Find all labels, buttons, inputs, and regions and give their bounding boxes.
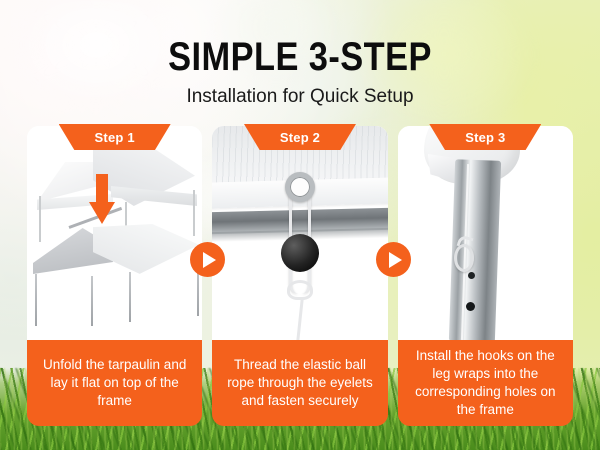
frame-leg-1 (35, 274, 37, 326)
down-arrow-icon (89, 174, 115, 226)
step-card-2[interactable]: Step 2 Thread the elastic ball rope thro… (212, 126, 387, 426)
step-caption-2: Thread the elastic ball rope through the… (212, 340, 387, 426)
leg-wrap-illustration (398, 126, 573, 340)
step-card-1[interactable]: Step 1 (27, 126, 202, 426)
step-image-1 (27, 126, 202, 340)
step-card-3[interactable]: Step 3 Install the hooks on the leg wrap… (398, 126, 573, 426)
page-subtitle: Installation for Quick Setup (0, 86, 600, 108)
frame-hole-2 (466, 302, 475, 311)
arrow-shaft (96, 174, 108, 204)
gazebo-frame (33, 218, 199, 326)
page-title: SIMPLE 3-STEP (42, 36, 558, 78)
step-image-3 (398, 126, 573, 340)
step-badge-2: Step 2 (244, 124, 356, 150)
black-ball-bungee (281, 234, 319, 272)
frame-leg-3 (129, 272, 131, 322)
step-caption-3: Install the hooks on the leg wraps into … (398, 340, 573, 426)
play-arrow-icon (389, 252, 402, 268)
arrow-head (89, 202, 115, 224)
play-arrow-icon (203, 252, 216, 268)
steps-container: Step 1 (27, 126, 573, 426)
hook-ring (454, 244, 474, 272)
canopy-illustration (27, 126, 202, 340)
frame-hole-1 (468, 272, 475, 279)
step-separator-arrow-2 (376, 242, 411, 277)
step-image-2 (212, 126, 387, 340)
step-caption-1: Unfold the tarpaulin and lay it flat on … (27, 340, 202, 426)
eyelet-illustration (212, 126, 387, 340)
cord-tail (296, 298, 304, 340)
frame-leg-2 (91, 276, 93, 326)
step-badge-1: Step 1 (59, 124, 171, 150)
tarpaulin-top (37, 144, 195, 214)
frame-roof-right (93, 224, 199, 276)
header: SIMPLE 3-STEP Installation for Quick Set… (0, 0, 600, 108)
eyelet-grommet (285, 172, 315, 202)
step-badge-3: Step 3 (429, 124, 541, 150)
